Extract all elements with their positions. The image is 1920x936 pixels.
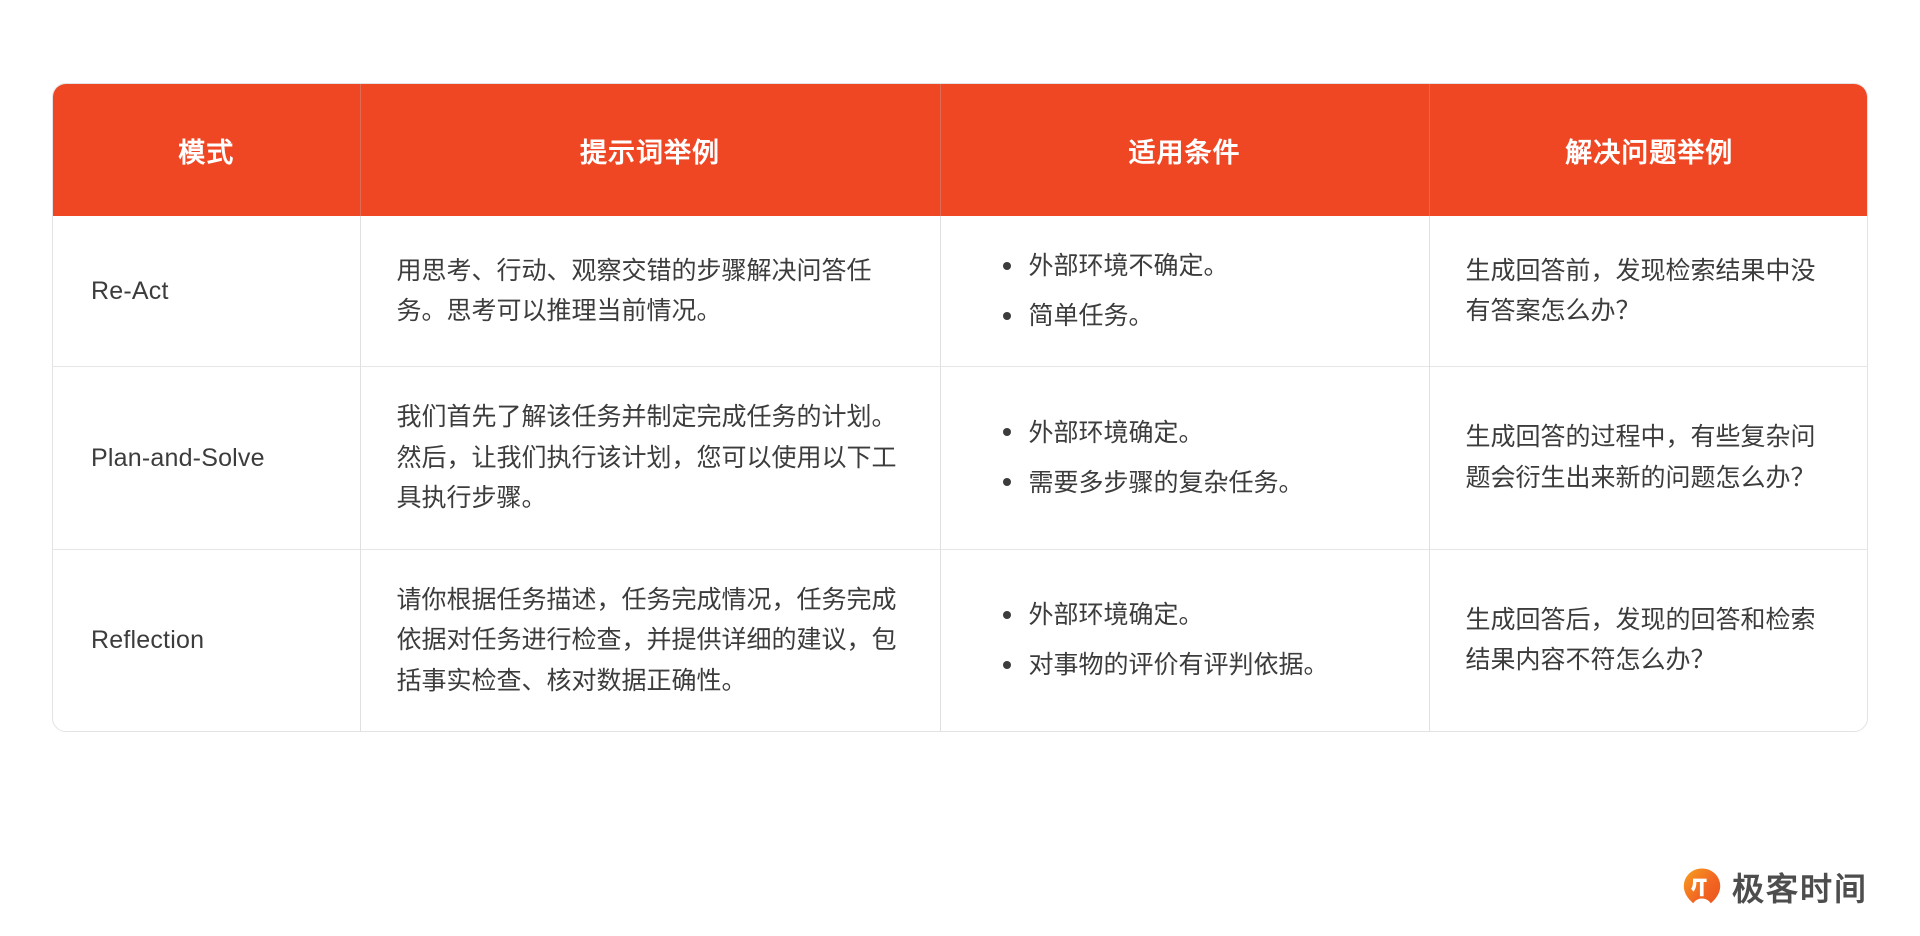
bullet-dot-icon (1003, 428, 1011, 436)
table-body: Re-Act 用思考、行动、观察交错的步骤解决问答任务。思考可以推理当前情况。 … (53, 216, 1868, 731)
column-header-problem-example: 解决问题举例 (1429, 84, 1868, 216)
prompt-text: 我们首先了解该任务并制定完成任务的计划。然后，让我们执行该计划，您可以使用以下工… (397, 397, 897, 519)
cell-mode: Reflection (53, 549, 360, 731)
comparison-table-container: 模式 提示词举例 适用条件 解决问题举例 Re-Act 用思考、行动、观察交错的… (52, 83, 1868, 732)
cell-problem-example: 生成回答的过程中，有些复杂问题会衍生出来新的问题怎么办？ (1429, 367, 1868, 550)
list-item: 需要多步骤的复杂任务。 (1003, 463, 1393, 503)
table-row: Plan-and-Solve 我们首先了解该任务并制定完成任务的计划。然后，让我… (53, 367, 1868, 550)
conditions-list: 外部环境确定。 对事物的评价有评判依据。 (977, 595, 1393, 685)
bullet-dot-icon (1003, 611, 1011, 619)
condition-text: 外部环境不确定。 (1029, 252, 1229, 280)
prompt-text: 用思考、行动、观察交错的步骤解决问答任务。思考可以推理当前情况。 (397, 251, 897, 332)
cell-applicable-conditions: 外部环境确定。 对事物的评价有评判依据。 (940, 549, 1429, 731)
table-row: Re-Act 用思考、行动、观察交错的步骤解决问答任务。思考可以推理当前情况。 … (53, 216, 1868, 367)
slide-canvas: 模式 提示词举例 适用条件 解决问题举例 Re-Act 用思考、行动、观察交错的… (0, 0, 1920, 936)
condition-text: 外部环境确定。 (1029, 419, 1204, 447)
list-item: 外部环境确定。 (1003, 595, 1393, 635)
condition-text: 对事物的评价有评判依据。 (1029, 651, 1329, 679)
table-header: 模式 提示词举例 适用条件 解决问题举例 (53, 84, 1868, 216)
cell-applicable-conditions: 外部环境确定。 需要多步骤的复杂任务。 (940, 367, 1429, 550)
conditions-list: 外部环境确定。 需要多步骤的复杂任务。 (977, 413, 1393, 503)
geektime-pin-icon (1682, 867, 1722, 911)
table-row: Reflection 请你根据任务描述，任务完成情况，任务完成依据对任务进行检查… (53, 549, 1868, 731)
list-item: 对事物的评价有评判依据。 (1003, 645, 1393, 685)
condition-text: 需要多步骤的复杂任务。 (1029, 469, 1304, 497)
column-header-mode: 模式 (53, 84, 360, 216)
bullet-dot-icon (1003, 312, 1011, 320)
brand-name: 极客时间 (1732, 873, 1868, 905)
list-item: 外部环境确定。 (1003, 413, 1393, 453)
table-header-row: 模式 提示词举例 适用条件 解决问题举例 (53, 84, 1868, 216)
column-header-applicable-conditions: 适用条件 (940, 84, 1429, 216)
list-item: 外部环境不确定。 (1003, 246, 1393, 286)
brand-watermark: 极客时间 (1682, 866, 1868, 912)
cell-problem-example: 生成回答前，发现检索结果中没有答案怎么办？ (1429, 216, 1868, 367)
cell-prompt-example: 用思考、行动、观察交错的步骤解决问答任务。思考可以推理当前情况。 (360, 216, 940, 367)
cell-applicable-conditions: 外部环境不确定。 简单任务。 (940, 216, 1429, 367)
condition-text: 简单任务。 (1029, 302, 1154, 330)
problem-text: 生成回答前，发现检索结果中没有答案怎么办？ (1466, 251, 1834, 332)
prompt-text: 请你根据任务描述，任务完成情况，任务完成依据对任务进行检查，并提供详细的建议，包… (397, 580, 897, 702)
problem-text: 生成回答的过程中，有些复杂问题会衍生出来新的问题怎么办？ (1466, 417, 1834, 498)
comparison-table: 模式 提示词举例 适用条件 解决问题举例 Re-Act 用思考、行动、观察交错的… (53, 84, 1868, 731)
cell-problem-example: 生成回答后，发现的回答和检索结果内容不符怎么办？ (1429, 549, 1868, 731)
cell-mode: Plan-and-Solve (53, 367, 360, 550)
cell-prompt-example: 我们首先了解该任务并制定完成任务的计划。然后，让我们执行该计划，您可以使用以下工… (360, 367, 940, 550)
cell-prompt-example: 请你根据任务描述，任务完成情况，任务完成依据对任务进行检查，并提供详细的建议，包… (360, 549, 940, 731)
condition-text: 外部环境确定。 (1029, 601, 1204, 629)
bullet-dot-icon (1003, 478, 1011, 486)
bullet-dot-icon (1003, 661, 1011, 669)
problem-text: 生成回答后，发现的回答和检索结果内容不符怎么办？ (1466, 600, 1834, 681)
column-header-prompt-example: 提示词举例 (360, 84, 940, 216)
bullet-dot-icon (1003, 262, 1011, 270)
list-item: 简单任务。 (1003, 296, 1393, 336)
conditions-list: 外部环境不确定。 简单任务。 (977, 246, 1393, 336)
cell-mode: Re-Act (53, 216, 360, 367)
